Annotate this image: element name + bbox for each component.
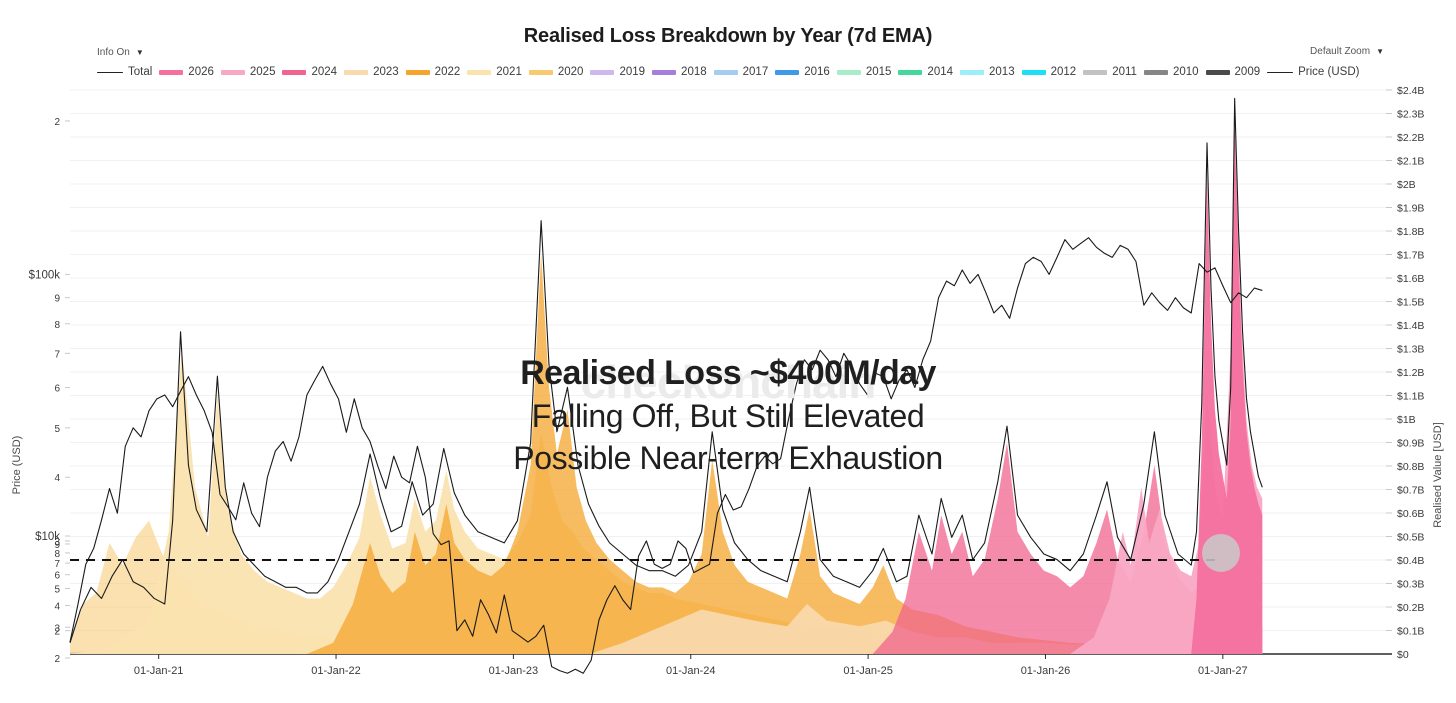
y-axis-left-tick: 9 <box>54 294 60 305</box>
y-axis-right-tick: $0.4B <box>1397 555 1424 567</box>
y-axis-left-tick: 5 <box>54 424 60 435</box>
y-axis-left-tick: $100k <box>29 269 61 281</box>
legend-swatch-icon <box>1022 70 1046 75</box>
legend-swatch-icon <box>97 72 123 73</box>
y-axis-right-tick: $1.8B <box>1397 226 1424 238</box>
y-axis-right-tick: $0.3B <box>1397 579 1424 591</box>
y-axis-left-tick: 8 <box>54 320 60 331</box>
legend-item-2023[interactable]: 2023 <box>344 67 399 79</box>
legend-swatch-icon <box>960 70 984 75</box>
legend-label: 2023 <box>373 67 399 79</box>
y-axis-right-tick: $0.7B <box>1397 485 1424 497</box>
legend-label: 2014 <box>927 67 953 79</box>
legend-label: 2020 <box>558 67 584 79</box>
y-axis-left-tick: 7 <box>54 349 60 360</box>
legend-label: 2017 <box>743 67 769 79</box>
legend-swatch-icon <box>282 70 306 75</box>
legend-item-price-usd[interactable]: Price (USD) <box>1267 67 1359 79</box>
x-axis-tick: 01-Jan-24 <box>666 665 716 674</box>
legend-item-2014[interactable]: 2014 <box>898 67 953 79</box>
y-axis-right-tick: $1B <box>1397 414 1416 426</box>
legend-swatch-icon <box>221 70 245 75</box>
legend-label: 2019 <box>619 67 645 79</box>
legend-label: 2012 <box>1051 67 1077 79</box>
chart-plot-area: $2.4B$2.3B$2.2B$2.1B$2B$1.9B$1.8B$1.7B$1… <box>0 84 1456 674</box>
legend-swatch-icon <box>1083 70 1107 75</box>
legend-label: 2010 <box>1173 67 1199 79</box>
y-axis-right-title: Realised Value [USD] <box>1432 420 1444 530</box>
legend-item-2021[interactable]: 2021 <box>467 67 522 79</box>
legend-label: Price (USD) <box>1298 67 1359 79</box>
x-axis-tick: 01-Jan-22 <box>311 665 361 674</box>
zoom-dropdown[interactable]: Default Zoom ▼ <box>1310 46 1384 57</box>
legend-swatch-icon <box>1144 70 1168 75</box>
legend-label: 2024 <box>311 67 337 79</box>
legend-item-2019[interactable]: 2019 <box>590 67 645 79</box>
y-axis-left-tick: 6 <box>54 383 60 394</box>
legend-item-2025[interactable]: 2025 <box>221 67 276 79</box>
legend-item-2012[interactable]: 2012 <box>1022 67 1077 79</box>
legend-swatch-icon <box>529 70 553 75</box>
legend-item-2026[interactable]: 2026 <box>159 67 214 79</box>
legend-swatch-icon <box>1206 70 1230 75</box>
y-axis-right-tick: $2.2B <box>1397 132 1424 144</box>
legend-item-2009[interactable]: 2009 <box>1206 67 1261 79</box>
y-axis-right-tick: $1.1B <box>1397 391 1424 403</box>
legend-item-2017[interactable]: 2017 <box>714 67 769 79</box>
y-axis-left-tick: 2 <box>54 654 60 665</box>
legend-label: Total <box>128 67 152 79</box>
y-axis-right-tick: $1.5B <box>1397 297 1424 309</box>
legend-swatch-icon <box>775 70 799 75</box>
highlight-marker <box>1202 534 1240 572</box>
legend-item-2020[interactable]: 2020 <box>529 67 584 79</box>
legend-swatch-icon <box>837 70 861 75</box>
y-axis-right-tick: $0.9B <box>1397 438 1424 450</box>
chevron-down-icon: ▼ <box>136 48 144 57</box>
chevron-down-icon: ▼ <box>1376 47 1384 56</box>
legend-item-2022[interactable]: 2022 <box>406 67 461 79</box>
legend-swatch-icon <box>159 70 183 75</box>
y-axis-right-tick: $0.1B <box>1397 626 1424 638</box>
legend-item-2016[interactable]: 2016 <box>775 67 830 79</box>
y-axis-left-tick: 3 <box>54 623 60 634</box>
y-axis-right-tick: $1.7B <box>1397 250 1424 262</box>
y-axis-left-tick: 5 <box>54 585 60 596</box>
legend-label: 2021 <box>496 67 522 79</box>
y-axis-left-tick: 4 <box>54 601 60 612</box>
info-dropdown[interactable]: Info On ▼ <box>97 47 144 58</box>
y-axis-left-tick: 6 <box>54 571 60 582</box>
legend-item-2015[interactable]: 2015 <box>837 67 892 79</box>
legend-label: 2026 <box>188 67 214 79</box>
legend-swatch-icon <box>406 70 430 75</box>
legend-label: 2025 <box>250 67 276 79</box>
legend-item-2010[interactable]: 2010 <box>1144 67 1199 79</box>
y-axis-left-tick: 7 <box>54 559 60 570</box>
y-axis-right-tick: $1.4B <box>1397 320 1424 332</box>
x-axis-tick: 01-Jan-26 <box>1021 665 1071 674</box>
y-axis-right-tick: $2.1B <box>1397 156 1424 168</box>
x-axis-tick: 01-Jan-23 <box>489 665 539 674</box>
y-axis-right-tick: $1.9B <box>1397 203 1424 215</box>
y-axis-right-tick: $0.6B <box>1397 508 1424 520</box>
y-axis-right-tick: $0.5B <box>1397 532 1424 544</box>
y-axis-left-tick: 4 <box>54 473 60 484</box>
x-axis-tick: 01-Jan-25 <box>843 665 893 674</box>
y-axis-right-tick: $2.3B <box>1397 109 1424 121</box>
legend-label: 2011 <box>1112 67 1137 79</box>
legend-label: 2022 <box>435 67 461 79</box>
legend-label: 2015 <box>866 67 892 79</box>
y-axis-right-tick: $0 <box>1397 649 1409 661</box>
x-axis-tick: 01-Jan-21 <box>134 665 184 674</box>
y-axis-right-tick: $2.4B <box>1397 85 1424 97</box>
y-axis-right-tick: $1.6B <box>1397 273 1424 285</box>
legend-swatch-icon <box>344 70 368 75</box>
info-dropdown-label: Info On <box>97 47 130 58</box>
legend-label: 2009 <box>1235 67 1261 79</box>
chart-svg: $2.4B$2.3B$2.2B$2.1B$2B$1.9B$1.8B$1.7B$1… <box>0 84 1456 674</box>
legend-label: 2018 <box>681 67 707 79</box>
legend-item-2011[interactable]: 2011 <box>1083 67 1137 79</box>
y-axis-right-tick: $1.3B <box>1397 344 1424 356</box>
y-axis-left-tick: 2 <box>54 117 60 128</box>
chart-legend: Total20262025202420232022202120202019201… <box>97 67 1387 79</box>
zoom-dropdown-label: Default Zoom <box>1310 46 1370 57</box>
legend-item-2024[interactable]: 2024 <box>282 67 337 79</box>
x-axis-tick: 01-Jan-27 <box>1198 665 1248 674</box>
legend-swatch-icon <box>714 70 738 75</box>
legend-item-2018[interactable]: 2018 <box>652 67 707 79</box>
legend-swatch-icon <box>1267 72 1293 73</box>
legend-item-2013[interactable]: 2013 <box>960 67 1015 79</box>
legend-label: 2016 <box>804 67 830 79</box>
y-axis-left-title: Price (USD) <box>11 420 23 510</box>
legend-swatch-icon <box>898 70 922 75</box>
y-axis-right-tick: $0.8B <box>1397 461 1424 473</box>
page-title: Realised Loss Breakdown by Year (7d EMA) <box>0 25 1456 48</box>
legend-item-total[interactable]: Total <box>97 67 152 79</box>
legend-swatch-icon <box>590 70 614 75</box>
legend-label: 2013 <box>989 67 1015 79</box>
y-axis-right-tick: $1.2B <box>1397 367 1424 379</box>
legend-swatch-icon <box>467 70 491 75</box>
y-axis-right-tick: $0.2B <box>1397 602 1424 614</box>
y-axis-right-tick: $2B <box>1397 179 1416 191</box>
legend-swatch-icon <box>652 70 676 75</box>
